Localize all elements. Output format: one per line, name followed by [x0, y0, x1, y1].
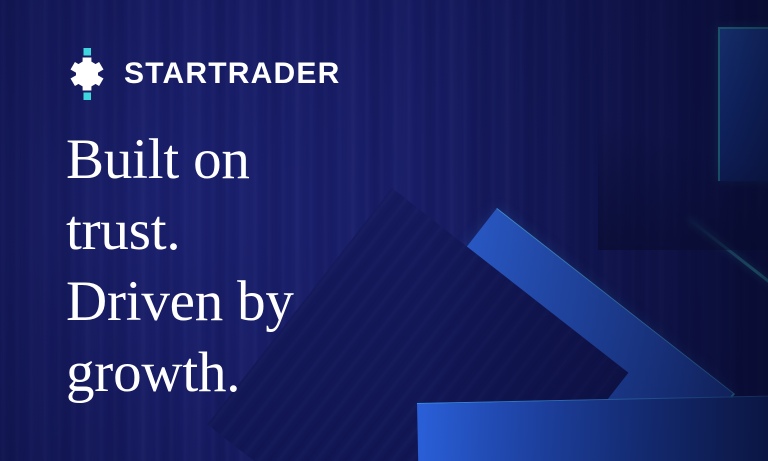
- headline-line-4: growth.: [66, 337, 466, 408]
- brand-logo-lockup: STARTRADER: [64, 48, 340, 100]
- startrader-brand-banner: STARTRADER Built on trust. Driven by gro…: [0, 0, 768, 461]
- headline-text: Built on trust. Driven by growth.: [66, 124, 466, 408]
- headline-line-1: Built on: [66, 124, 466, 195]
- brand-wordmark: STARTRADER: [124, 59, 340, 89]
- banner-content: STARTRADER Built on trust. Driven by gro…: [0, 0, 768, 461]
- headline-line-3: Driven by: [66, 266, 466, 337]
- startrader-asterisk-logo-icon: [64, 48, 110, 100]
- headline-line-2: trust.: [66, 195, 466, 266]
